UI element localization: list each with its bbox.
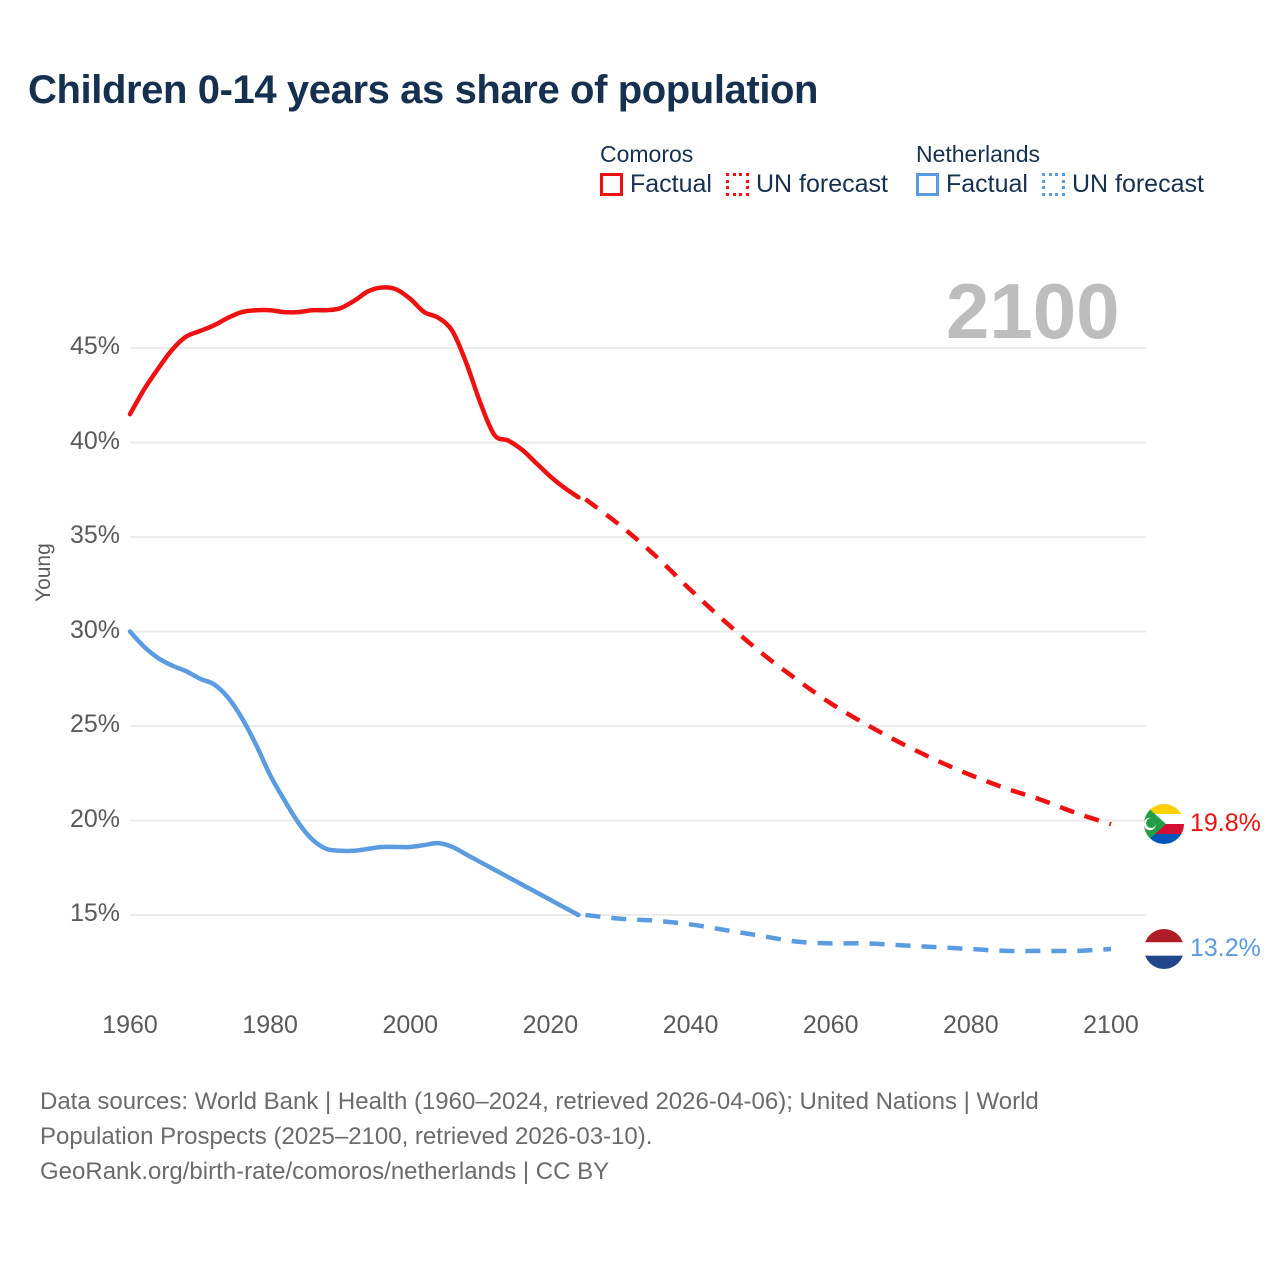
footer-line-1: Data sources: World Bank | Health (1960–… (40, 1085, 1220, 1120)
series-line-factual-netherlands (130, 632, 578, 916)
footer-line-3[interactable]: GeoRank.org/birth-rate/comoros/netherlan… (40, 1155, 1220, 1190)
x-tick-label: 2020 (500, 1013, 600, 1038)
flag-marker-comoros-icon (1144, 804, 1184, 844)
y-tick-label: 15% (48, 901, 120, 926)
y-tick-label: 20% (48, 807, 120, 832)
x-tick-label: 2080 (921, 1013, 1021, 1038)
y-axis-title: Young (32, 562, 56, 602)
y-tick-label: 25% (48, 712, 120, 737)
footer-line-2: Population Prospects (2025–2100, retriev… (40, 1120, 1220, 1155)
footer-credits: Data sources: World Bank | Health (1960–… (40, 1085, 1220, 1189)
y-tick-label: 40% (48, 429, 120, 454)
comoros-end-label: 19.8% (1190, 811, 1261, 836)
chart-container: Children 0-14 years as share of populati… (0, 0, 1280, 1280)
y-tick-label: 35% (48, 523, 120, 548)
x-tick-label: 2100 (1061, 1013, 1161, 1038)
x-tick-label: 1960 (80, 1013, 180, 1038)
series-line-forecast-comoros (585, 499, 1111, 824)
x-tick-label: 2000 (360, 1013, 460, 1038)
x-tick-label: 2060 (781, 1013, 881, 1038)
series-line-forecast-netherlands (585, 915, 1111, 951)
plot-area (0, 0, 1280, 1060)
flag-marker-netherlands-icon (1144, 929, 1184, 969)
series-line-factual-comoros (130, 287, 578, 497)
y-tick-label: 30% (48, 618, 120, 643)
x-tick-label: 1980 (220, 1013, 320, 1038)
x-tick-label: 2040 (641, 1013, 741, 1038)
y-tick-label: 45% (48, 334, 120, 359)
netherlands-end-label: 13.2% (1190, 936, 1261, 961)
